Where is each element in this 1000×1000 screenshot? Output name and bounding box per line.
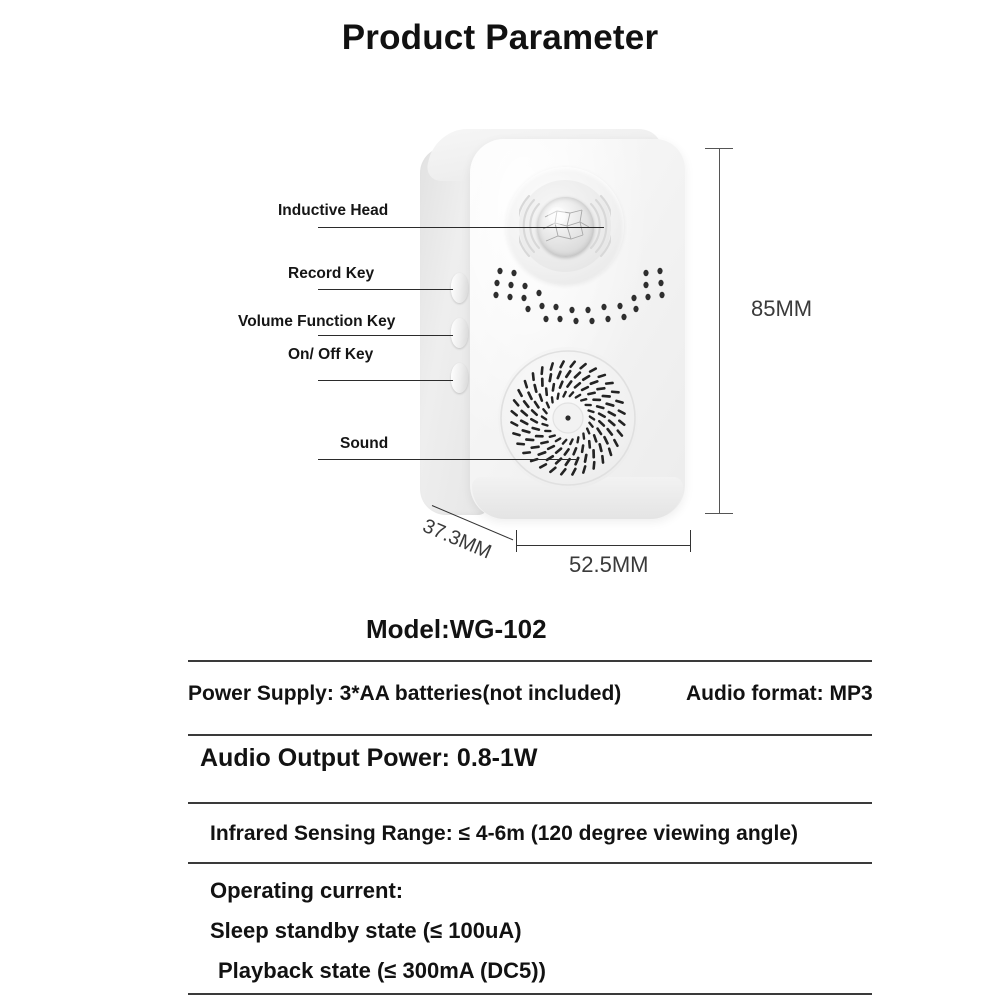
on-off-key-button[interactable]: [451, 363, 468, 393]
spec-divider-2: [188, 734, 872, 736]
spec-playback-state: Playback state (≤ 300mA (DC5)): [218, 958, 546, 984]
microphone-hole-array: [484, 265, 674, 335]
product-parameter-page: Product Parameter: [0, 0, 1000, 1000]
height-dimension-bottom-cap: [705, 513, 733, 514]
leader-line-on-off-key: [318, 380, 453, 381]
height-dimension-line: [719, 148, 720, 513]
record-key-button[interactable]: [451, 273, 468, 303]
spec-divider-3: [188, 802, 872, 804]
page-title: Product Parameter: [0, 18, 1000, 58]
spec-model: Model:WG-102: [366, 614, 547, 645]
callout-inductive-head-label: Inductive Head: [278, 202, 388, 220]
speaker-hole-pattern: [498, 347, 638, 489]
spec-divider-5: [188, 993, 872, 995]
spec-audio-format: Audio format: MP3: [686, 682, 873, 706]
spec-divider-4: [188, 862, 872, 864]
spec-power-supply: Power Supply: 3*AA batteries(not include…: [188, 682, 621, 706]
speaker-grille: [498, 347, 638, 489]
spec-operating-current-label: Operating current:: [210, 878, 403, 904]
volume-function-key-button[interactable]: [451, 318, 468, 348]
leader-line-sound: [318, 459, 576, 460]
width-dimension-left-cap: [516, 530, 517, 552]
spec-divider-1: [188, 660, 872, 662]
callout-on-off-key-label: On/ Off Key: [288, 346, 373, 364]
leader-line-volume-function-key: [318, 335, 453, 336]
width-dimension-line: [516, 545, 690, 546]
callout-volume-function-key-label: Volume Function Key: [238, 313, 395, 331]
spec-audio-output-power: Audio Output Power: 0.8-1W: [200, 744, 538, 773]
callout-record-key-label: Record Key: [288, 265, 374, 283]
width-dimension-right-cap: [690, 530, 691, 552]
product-image-pir-sensor-speaker: [420, 125, 695, 525]
spec-infrared-sensing-range: Infrared Sensing Range: ≤ 4-6m (120 degr…: [210, 822, 798, 846]
height-dimension-label: 85MM: [751, 296, 812, 322]
callout-sound-label: Sound: [340, 435, 388, 453]
product-diagram: Inductive Head Record Key Volume Functio…: [0, 90, 1000, 590]
spec-sleep-standby-state: Sleep standby state (≤ 100uA): [210, 918, 522, 944]
leader-line-inductive-head: [318, 227, 604, 228]
width-dimension-label: 52.5MM: [569, 552, 648, 578]
leader-line-record-key: [318, 289, 453, 290]
